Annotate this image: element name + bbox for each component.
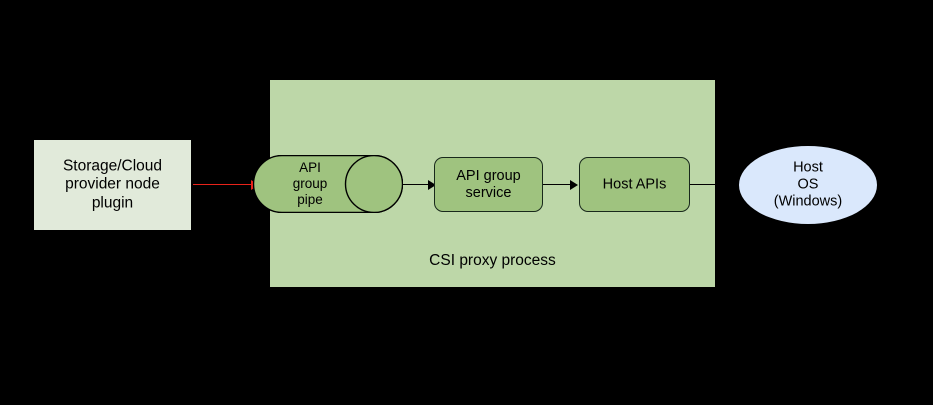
node-api-group-pipe[interactable]: API group pipe — [253, 155, 403, 213]
cylinder-shape-icon — [253, 155, 403, 213]
node-host-apis[interactable]: Host APIs — [579, 157, 690, 212]
node-label-api-group-service: API group service — [435, 167, 542, 201]
node-api-group-service[interactable]: API group service — [434, 157, 543, 212]
node-label-host-apis: Host APIs — [580, 176, 689, 193]
node-label-plugin: Storage/Cloud provider node plugin — [34, 158, 191, 213]
node-storage-cloud-provider-node-plugin[interactable]: Storage/Cloud provider node plugin — [33, 139, 192, 231]
edge-line — [193, 184, 253, 185]
edge-plugin-to-api-group-pipe — [193, 179, 261, 190]
container-label-csi-proxy-process: CSI proxy process — [271, 252, 714, 270]
diagram-canvas: Storage/Cloud provider node plugin CSI p… — [0, 0, 933, 405]
node-host-os[interactable]: Host OS (Windows) — [738, 145, 878, 225]
node-label-host-os: Host OS (Windows) — [739, 159, 877, 210]
